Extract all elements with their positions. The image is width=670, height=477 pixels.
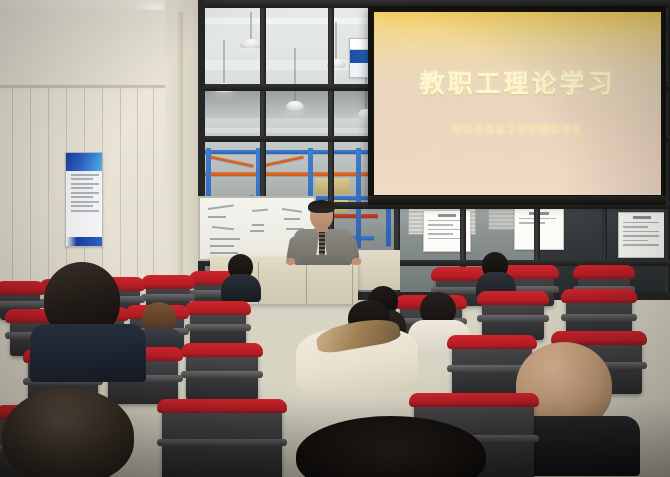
seat	[162, 404, 282, 477]
presenter-hair	[308, 200, 335, 213]
presenter-tie	[319, 231, 325, 255]
desk-seam	[306, 262, 307, 304]
presenter-hand	[352, 258, 361, 265]
seat	[186, 348, 258, 400]
safety-notice-poster	[65, 152, 103, 247]
wall-column-edge	[178, 12, 183, 302]
pendant-light	[286, 48, 304, 110]
slide-subtitle: 物流与信息工程学院党总支	[374, 122, 661, 136]
attendee-torso	[221, 274, 261, 302]
seat	[190, 306, 246, 346]
projection-screen-frame: 教职工理论学习 物流与信息工程学院党总支	[368, 6, 666, 202]
attendee-torso	[30, 324, 146, 382]
poster-footer	[66, 237, 102, 246]
presenter	[288, 200, 360, 264]
lecture-hall-photo: 教职工理论学习 物流与信息工程学院党总支	[0, 0, 670, 477]
seat	[482, 296, 544, 340]
projection-screen-bottom-bar	[368, 196, 666, 205]
front-desk-right-section	[358, 250, 400, 290]
poster-header	[66, 153, 102, 171]
window-note-right	[618, 212, 666, 258]
slide-title: 教职工理论学习	[374, 64, 661, 100]
pendant-light	[240, 12, 262, 48]
maple-leaf-motif	[510, 102, 660, 195]
projection-screen: 教职工理论学习 物流与信息工程学院党总支	[374, 12, 661, 195]
attendee-head	[2, 388, 134, 477]
presenter-hand	[286, 258, 295, 265]
desk-seam	[352, 262, 353, 304]
maple-leaf-motif	[380, 96, 510, 195]
